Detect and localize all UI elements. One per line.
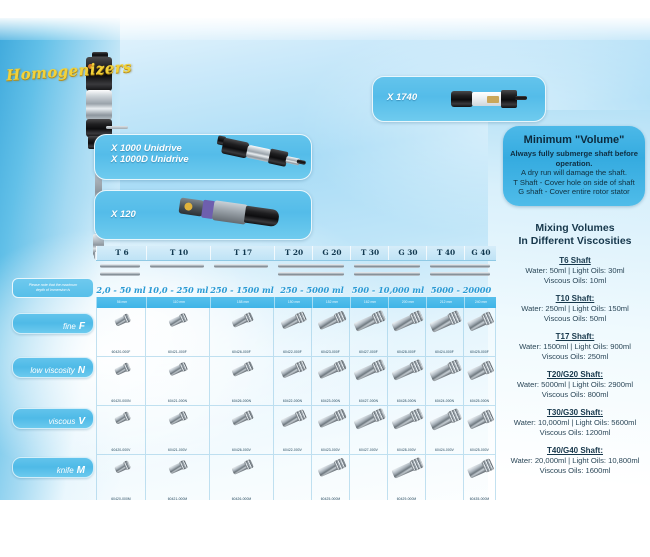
mixing-volumes-title-line2: In Different Viscosities	[500, 235, 650, 248]
dispersing-tool-image	[467, 362, 493, 381]
minimum-volume-title: Minimum "Volume"	[503, 133, 645, 147]
product-code: 60425-000N	[464, 399, 495, 403]
dispersing-tool-image	[391, 409, 422, 430]
dispersing-tool-image	[231, 460, 253, 475]
shaft-t17-row1: Water: 1500ml | Light Oils: 900ml	[500, 342, 650, 352]
product-code: 60423-000V	[312, 448, 349, 452]
row-label-fine[interactable]: fineF	[12, 313, 94, 334]
product-code: 60424-000V	[426, 448, 463, 452]
dispersing-tool-image	[169, 461, 188, 474]
shaft-outline-illustration	[100, 272, 140, 276]
table-cell[interactable]: 60421-000V	[146, 406, 210, 455]
table-cell[interactable]: 60420-000F	[96, 308, 146, 357]
mixing-volumes-group-t10: T10 Shaft: Water: 250ml | Light Oils: 15…	[500, 293, 650, 324]
row-label-knife-text: knife	[57, 466, 74, 475]
product-code: 60422-000V	[274, 448, 311, 452]
product-code: 60427-000V	[350, 448, 387, 452]
product-code: 60421-000F	[146, 350, 209, 354]
dispersing-tool-image	[281, 313, 306, 330]
table-cell[interactable]	[426, 455, 464, 504]
dispersing-tool-image	[169, 363, 188, 376]
product-code: 60428-000F	[388, 350, 425, 354]
shaft-t20g20-row2: Viscous Oils: 800ml	[500, 390, 650, 400]
table-cell[interactable]: 60429-000M	[388, 455, 426, 504]
table-cell[interactable]: 60424-000N	[426, 357, 464, 406]
shaft-t6-row1: Water: 50ml | Light Oils: 30ml	[500, 266, 650, 276]
shaft-name-t17: T17 Shaft:	[500, 331, 650, 342]
mixing-volumes-group-t30g30: T30/G30 Shaft: Water: 10,000ml | Light O…	[500, 407, 650, 438]
volume-range-1: 10,0 - 250 ml	[146, 284, 210, 297]
shaft-outline-illustration	[354, 272, 420, 276]
dispersing-tool-image	[354, 311, 385, 331]
product-code: 60422-000N	[274, 399, 311, 403]
row-label-low-viscosity-text: low viscosity	[30, 366, 74, 375]
shaft-dimension-2: 158 mm	[210, 297, 275, 308]
table-volume-range-row: 2,0 - 50 ml10,0 - 250 ml250 - 1500 ml250…	[96, 284, 496, 297]
product-code: 60426-000N	[210, 399, 273, 403]
product-code: 60420-000N	[97, 399, 145, 403]
shaft-name-t30g30: T30/G30 Shaft:	[500, 407, 650, 418]
shaft-name-t20g20: T20/G20 Shaft:	[500, 369, 650, 380]
table-cell[interactable]: 60423-000F	[312, 308, 350, 357]
row-label-low-viscosity[interactable]: low viscosityN	[12, 357, 94, 378]
shaft-dimension-0: 56 mm	[96, 297, 147, 308]
product-panel-x1740[interactable]: X 1740	[372, 76, 546, 122]
shaft-outline-illustration	[214, 264, 268, 268]
table-column-header-t20[interactable]: T 20	[274, 246, 313, 260]
dispersing-tool-image	[317, 410, 345, 428]
table-cell[interactable]: 60435-000M	[464, 455, 496, 504]
mixing-volumes-title-line1: Mixing Volumes	[500, 222, 650, 235]
table-column-header-g40[interactable]: G 40	[464, 246, 497, 260]
product-label-x1740: X 1740	[387, 92, 417, 103]
table-cell[interactable]: 60427-000N	[350, 357, 388, 406]
table-cell[interactable]: 60426-000V	[210, 406, 274, 455]
table-cell[interactable]: 60426-000M	[210, 455, 274, 504]
dispersing-tool-image	[317, 312, 345, 330]
mixing-volumes-group-t6: T6 Shaft Water: 50ml | Light Oils: 30ml …	[500, 255, 650, 286]
dispersing-tool-image	[391, 311, 422, 332]
dispersing-tool-image	[231, 313, 253, 328]
mixing-volumes-group-t17: T17 Shaft: Water: 1500ml | Light Oils: 9…	[500, 331, 650, 362]
table-cell[interactable]: 60422-000N	[274, 357, 312, 406]
product-code: 60420-000F	[97, 350, 145, 354]
shaft-name-t40g40: T40/G40 Shaft:	[500, 445, 650, 456]
shaft-t30g30-row2: Viscous Oils: 1200ml	[500, 428, 650, 438]
row-label-fine-text: fine	[63, 322, 76, 331]
minimum-volume-line-5: G shaft - Cover entire rotor stator	[503, 187, 645, 197]
table-cell[interactable]: 60425-000V	[464, 406, 496, 455]
table-cell[interactable]: 60421-000M	[146, 455, 210, 504]
background-top-fade	[0, 0, 650, 40]
background-bottom-fade	[0, 500, 650, 557]
device-image-x1740	[451, 87, 535, 111]
table-cell[interactable]: 60421-000F	[146, 308, 210, 357]
product-code: 60425-000F	[464, 350, 495, 354]
minimum-volume-line-4: T Shaft - Cover hole on side of shaft	[503, 178, 645, 188]
table-cell[interactable]: 60423-000V	[312, 406, 350, 455]
product-label-x120: X 120	[111, 209, 136, 220]
shaft-outline-illustration	[278, 272, 344, 276]
device-image-x120	[178, 191, 291, 234]
shaft-dimension-8: 240 mm	[464, 297, 497, 308]
shaft-t10-row2: Viscous Oils: 50ml	[500, 314, 650, 324]
product-label-x1000-line1: X 1000 Unidrive	[111, 143, 189, 154]
shaft-outline-illustration	[100, 264, 140, 268]
device-image-x1000	[213, 131, 314, 182]
product-code: 60427-000F	[350, 350, 387, 354]
shaft-t10-row1: Water: 250ml | Light Oils: 150ml	[500, 304, 650, 314]
table-cell[interactable]: 60428-000F	[388, 308, 426, 357]
shaft-dimension-7: 212 mm	[426, 297, 465, 308]
shaft-dimension-6: 200 mm	[388, 297, 427, 308]
immersion-depth-note-line2: depth of immersion is	[17, 288, 89, 293]
shaft-t40g40-row2: Viscous Oils: 1600ml	[500, 466, 650, 476]
shaft-outline-illustration	[430, 264, 490, 268]
shaft-t40g40-row1: Water: 20,000ml | Light Oils: 10,800ml	[500, 456, 650, 466]
table-cell[interactable]	[274, 455, 312, 504]
dispersing-tool-image	[317, 459, 345, 477]
table-column-header-t40[interactable]: T 40	[426, 246, 465, 260]
shaft-outline-illustration	[354, 264, 420, 268]
product-code: 60425-000V	[464, 448, 495, 452]
product-code: 60424-000N	[426, 399, 463, 403]
minimum-volume-line-2: operation.	[503, 159, 645, 169]
minimum-volume-line-3: A dry run will damage the shaft.	[503, 168, 645, 178]
dispersing-tool-image	[429, 311, 460, 332]
row-label-knife[interactable]: knifeM	[12, 457, 94, 478]
product-code: 60426-000V	[210, 448, 273, 452]
dispersing-tool-image	[391, 360, 422, 381]
product-code: 60428-000N	[388, 399, 425, 403]
dispersing-tool-image	[354, 409, 385, 429]
dispersing-tool-image	[429, 409, 460, 430]
immersion-depth-note: Please note that the maximum depth of im…	[12, 278, 94, 298]
volume-range-5: 5000 - 20000 ml	[426, 284, 496, 297]
table-cell[interactable]: 60420-000V	[96, 406, 146, 455]
dispersing-tool-image	[114, 363, 130, 375]
shaft-dimension-1: 110 mm	[146, 297, 211, 308]
dispersing-tool-image	[114, 314, 130, 326]
row-label-knife-code: M	[77, 465, 85, 476]
table-body-grid: 60420-000F60421-000F60426-000F60422-000F…	[96, 308, 496, 504]
table-header-row: T 6T 10T 17T 20G 20T 30G 30T 40G 40	[96, 246, 496, 261]
product-code: 60427-000N	[350, 399, 387, 403]
table-column-header-g20[interactable]: G 20	[312, 246, 351, 260]
dispersing-tool-image	[429, 360, 460, 381]
table-column-header-t17[interactable]: T 17	[210, 246, 275, 260]
mixing-volumes-group-t40g40: T40/G40 Shaft: Water: 20,000ml | Light O…	[500, 445, 650, 476]
dispersing-tool-image	[231, 411, 253, 426]
row-label-viscous[interactable]: viscousV	[12, 408, 94, 429]
row-label-viscous-code: V	[78, 416, 85, 427]
volume-range-0: 2,0 - 50 ml	[96, 284, 146, 297]
table-cell[interactable]: 60421-000N	[146, 357, 210, 406]
shaft-dimension-5: 162 mm	[350, 297, 389, 308]
table-column-header-g30[interactable]: G 30	[388, 246, 427, 260]
dispersing-tool-image	[317, 361, 345, 379]
table-cell[interactable]: 60420-000N	[96, 357, 146, 406]
dispersing-tool-image	[114, 412, 130, 424]
product-code: 60421-000N	[146, 399, 209, 403]
shaft-name-t10: T10 Shaft:	[500, 293, 650, 304]
table-cell[interactable]: 60425-000N	[464, 357, 496, 406]
product-code: 60428-000V	[388, 448, 425, 452]
mixing-volumes-group-t20g20: T20/G20 Shaft: Water: 5000ml | Light Oil…	[500, 369, 650, 400]
shaft-name-t6: T6 Shaft	[500, 255, 650, 266]
product-code: 60426-000F	[210, 350, 273, 354]
dispersing-tool-image	[354, 360, 385, 380]
table-cell[interactable]: 60423-000N	[312, 357, 350, 406]
minimum-volume-line-1: Always fully submerge shaft before	[503, 149, 645, 159]
shaft-t6-row2: Viscous Oils: 10ml	[500, 276, 650, 286]
dispersing-tool-image	[169, 314, 188, 327]
dispersing-tool-image	[467, 460, 493, 479]
table-cell[interactable]: 60428-000V	[388, 406, 426, 455]
product-panel-x1000[interactable]: X 1000 Unidrive X 1000D Unidrive	[94, 134, 312, 180]
shaft-dimension-3: 150 mm	[274, 297, 313, 308]
table-shaft-illustration-row	[96, 260, 496, 284]
table-cell[interactable]: 60425-000M	[312, 455, 350, 504]
dispersing-tool-image	[281, 362, 306, 379]
dispersing-tool-image	[391, 458, 422, 479]
product-label-x1000-line2: X 1000D Unidrive	[111, 154, 189, 165]
dispersing-tool-image	[114, 461, 130, 473]
volume-range-3: 250 - 5000 ml	[274, 284, 350, 297]
table-cell[interactable]: 60428-000N	[388, 357, 426, 406]
row-label-fine-code: F	[79, 321, 85, 332]
product-code: 60424-000F	[426, 350, 463, 354]
mixing-volumes-panel: Mixing Volumes In Different Viscosities …	[500, 222, 650, 476]
table-cell[interactable]: 60422-000V	[274, 406, 312, 455]
shaft-outline-illustration	[278, 264, 344, 268]
shaft-outline-illustration	[150, 264, 204, 268]
table-cell[interactable]: 60425-000F	[464, 308, 496, 357]
product-code: 60422-000F	[274, 350, 311, 354]
table-cell[interactable]: 60426-000F	[210, 308, 274, 357]
product-code: 60423-000F	[312, 350, 349, 354]
table-cell[interactable]: 60426-000N	[210, 357, 274, 406]
product-label-x1000: X 1000 Unidrive X 1000D Unidrive	[111, 143, 189, 165]
dispersing-tools-table: T 6T 10T 17T 20G 20T 30G 30T 40G 40 2,0 …	[96, 246, 496, 504]
table-column-header-t6[interactable]: T 6	[96, 246, 147, 260]
table-cell[interactable]: 60424-000V	[426, 406, 464, 455]
table-column-header-t30[interactable]: T 30	[350, 246, 389, 260]
shaft-t20g20-row1: Water: 5000ml | Light Oils: 2900ml	[500, 380, 650, 390]
shaft-outline-illustration	[430, 272, 490, 276]
dispersing-tool-image	[467, 411, 493, 430]
dispersing-tool-image	[231, 362, 253, 377]
minimum-volume-callout: Minimum "Volume" Always fully submerge s…	[503, 126, 645, 206]
product-code: 60421-000V	[146, 448, 209, 452]
table-cell[interactable]: 60422-000F	[274, 308, 312, 357]
row-label-low-viscosity-code: N	[78, 365, 85, 376]
table-cell[interactable]: 60420-000M	[96, 455, 146, 504]
row-label-viscous-text: viscous	[49, 417, 76, 426]
table-column-header-t10[interactable]: T 10	[146, 246, 211, 260]
dispersing-tool-image	[467, 313, 493, 332]
table-cell[interactable]: 60427-000F	[350, 308, 388, 357]
table-cell[interactable]: 60427-000V	[350, 406, 388, 455]
volume-range-4: 500 - 10,000 ml	[350, 284, 426, 297]
dispersing-tool-image	[169, 412, 188, 425]
poster-root: Homogenizers X 1740 X 1000 Unidrive X 10…	[0, 0, 650, 557]
product-panel-x120[interactable]: X 120	[94, 190, 312, 240]
shaft-t17-row2: Viscous Oils: 250ml	[500, 352, 650, 362]
shaft-t30g30-row1: Water: 10,000ml | Light Oils: 5600ml	[500, 418, 650, 428]
shaft-dimension-4: 152 mm	[312, 297, 351, 308]
product-code: 60420-000V	[97, 448, 145, 452]
product-code: 60423-000N	[312, 399, 349, 403]
table-cell[interactable]	[350, 455, 388, 504]
volume-range-2: 250 - 1500 ml	[210, 284, 274, 297]
dispersing-tool-image	[281, 411, 306, 428]
table-dimension-row: 56 mm110 mm158 mm150 mm152 mm162 mm200 m…	[96, 297, 496, 308]
table-cell[interactable]: 60424-000F	[426, 308, 464, 357]
